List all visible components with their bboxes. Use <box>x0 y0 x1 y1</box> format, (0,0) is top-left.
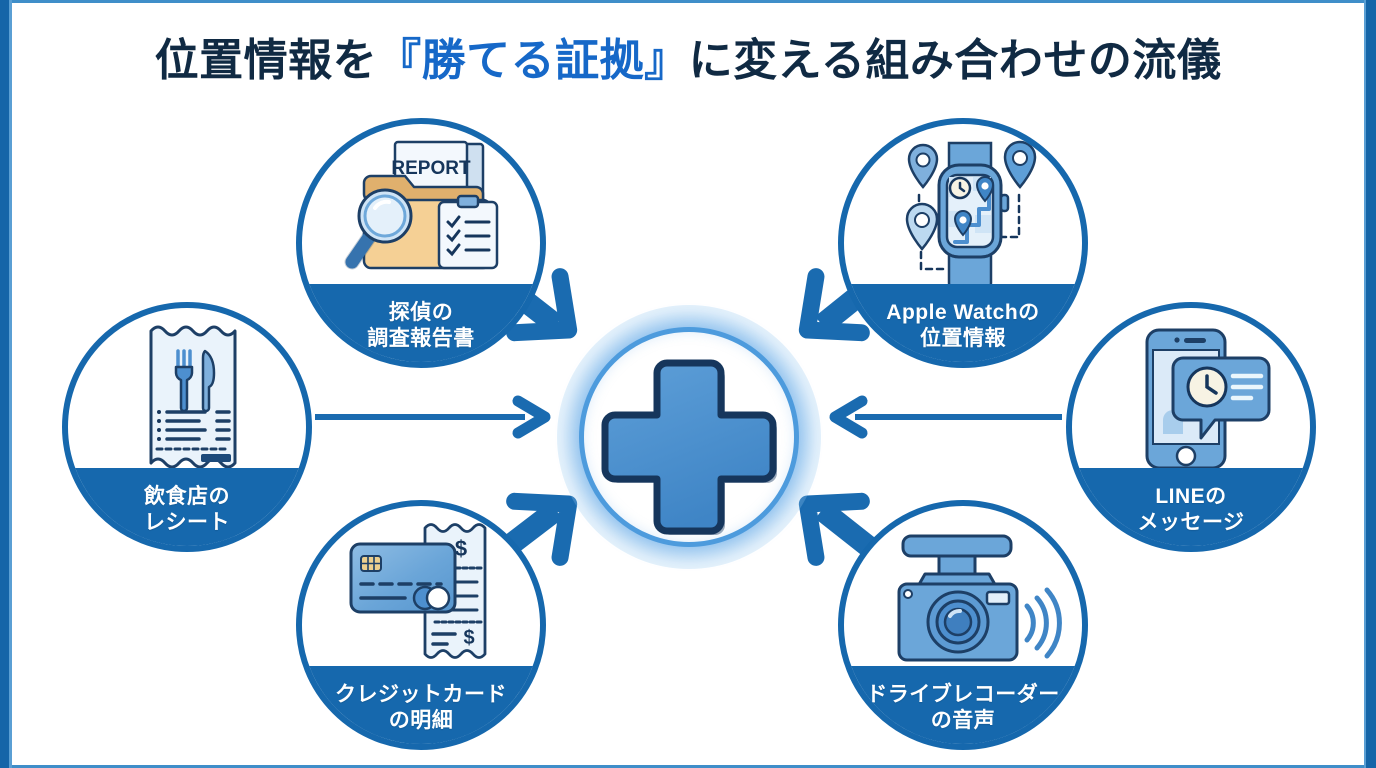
node-label-band: Apple Watchの 位置情報 <box>838 284 1088 368</box>
node-label-band: ドライブレコーダー の音声 <box>838 666 1088 750</box>
node-disc: 飲食店の レシート <box>62 302 312 552</box>
node-label-line2: メッセージ <box>1137 510 1244 536</box>
node-apple-watch-location[interactable]: Apple Watchの 位置情報 <box>838 118 1088 368</box>
node-disc: Apple Watchの 位置情報 <box>838 118 1088 368</box>
restaurant-receipt-icon <box>68 316 312 481</box>
node-disc: $ $ <box>296 500 546 750</box>
node-disc: LINEの メッセージ <box>1066 302 1316 552</box>
currency-symbol: $ <box>455 536 467 561</box>
title-suffix: に変える組み合わせの流儀 <box>689 36 1222 85</box>
map-pin-icon <box>1005 142 1035 187</box>
node-detective-report[interactable]: REPORT <box>296 118 546 368</box>
node-disc: REPORT <box>296 118 546 368</box>
map-pin-icon <box>909 145 937 187</box>
title-quote-close: 』 <box>644 36 689 85</box>
sound-wave-icon <box>1027 590 1059 656</box>
node-label-line1: 探偵の <box>389 300 454 326</box>
title-prefix: 位置情報を <box>155 36 378 85</box>
node-restaurant-receipt[interactable]: 飲食店の レシート <box>62 302 312 552</box>
node-label-line1: LINEの <box>1155 484 1226 510</box>
line-message-icon <box>1072 316 1316 481</box>
apple-watch-location-icon <box>844 132 1088 297</box>
frame-border-right <box>1366 0 1376 768</box>
dashcam-audio-icon <box>844 514 1088 679</box>
plus-icon <box>557 305 821 569</box>
title-quote-open: 『 <box>377 36 422 85</box>
arrow-receipt-to-hub <box>315 401 545 433</box>
node-label-line1: クレジットカード <box>335 682 507 708</box>
node-label-line2: レシート <box>144 510 230 536</box>
map-pin-icon <box>907 204 937 249</box>
node-line-message[interactable]: LINEの メッセージ <box>1066 302 1316 552</box>
frame-accent-left <box>9 0 12 768</box>
node-label-line2: の明細 <box>389 708 454 734</box>
frame-accent-right <box>1364 0 1366 768</box>
node-label-band: クレジットカード の明細 <box>296 666 546 750</box>
currency-symbol: $ <box>463 627 474 649</box>
node-label-line1: ドライブレコーダー <box>866 682 1060 708</box>
node-label-line2: 位置情報 <box>920 326 1006 352</box>
credit-card-statement-icon: $ $ <box>302 514 546 679</box>
detective-report-icon: REPORT <box>302 132 546 297</box>
page-title: 位置情報を『勝てる証拠』に変える組み合わせの流儀 <box>0 24 1376 88</box>
node-label-band: 探偵の 調査報告書 <box>296 284 546 368</box>
frame-border-top <box>0 0 1376 3</box>
node-disc: ドライブレコーダー の音声 <box>838 500 1088 750</box>
center-hub <box>557 305 821 569</box>
node-label-line1: Apple Watchの <box>886 300 1039 326</box>
frame-border-left <box>0 0 9 768</box>
node-credit-card-statement[interactable]: $ $ <box>296 500 546 750</box>
title-highlight: 勝てる証拠 <box>422 36 645 85</box>
node-label-line2: の音声 <box>931 708 996 734</box>
node-label-line1: 飲食店の <box>144 484 230 510</box>
arrow-line-to-hub <box>835 401 1062 433</box>
infographic-canvas: 位置情報を『勝てる証拠』に変える組み合わせの流儀 <box>0 0 1376 768</box>
node-label-band: 飲食店の レシート <box>62 468 312 552</box>
node-label-line2: 調査報告書 <box>367 326 475 352</box>
node-dashcam-audio[interactable]: ドライブレコーダー の音声 <box>838 500 1088 750</box>
node-label-band: LINEの メッセージ <box>1066 468 1316 552</box>
